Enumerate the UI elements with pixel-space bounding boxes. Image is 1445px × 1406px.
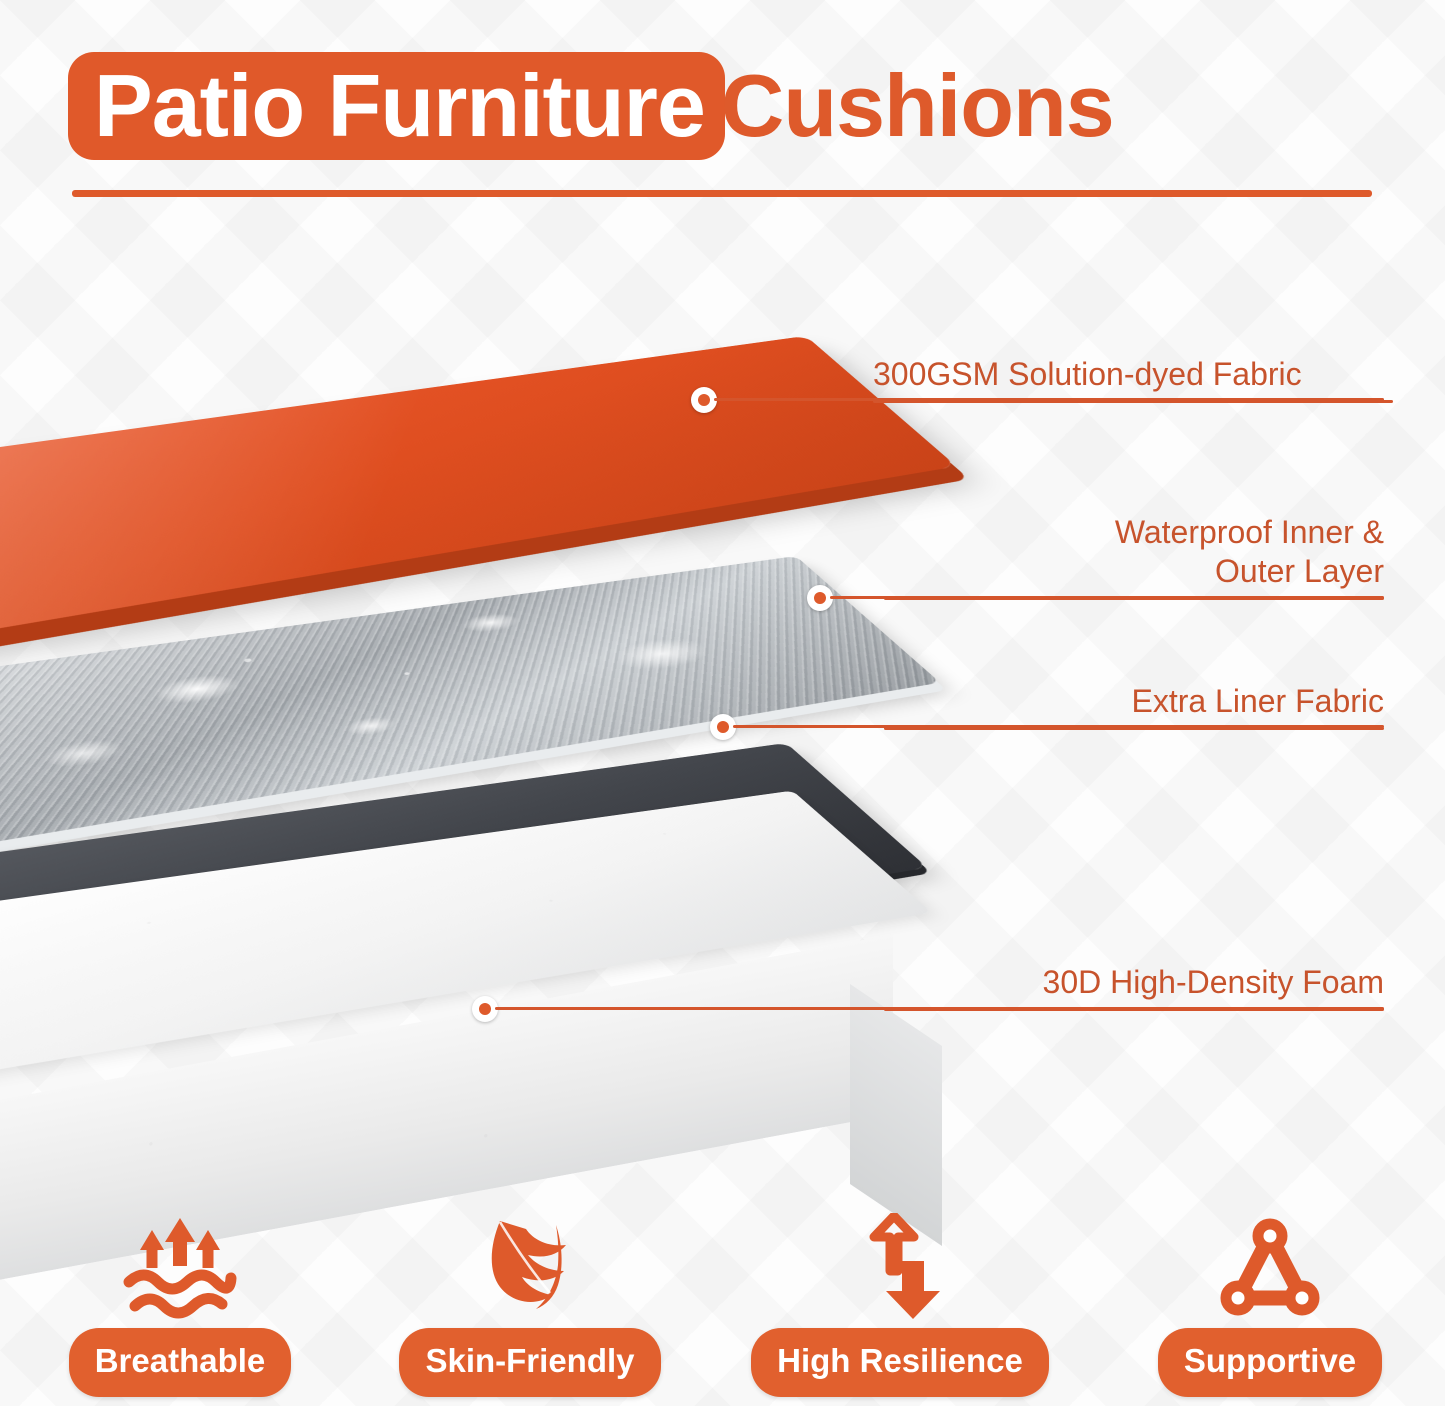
layer-high-density-foam xyxy=(0,770,930,1180)
callout-label-waterproof-underline xyxy=(884,597,1384,600)
feature-high-resilience[interactable]: High Resilience xyxy=(750,1212,1050,1406)
triangle-nodes-icon xyxy=(1214,1212,1326,1324)
feather-icon xyxy=(470,1212,590,1324)
callout-label-liner: Extra Liner Fabric xyxy=(884,682,1384,721)
title-second-part: Cushions xyxy=(705,55,1114,157)
feature-label-skin-friendly[interactable]: Skin-Friendly xyxy=(399,1328,660,1397)
feature-supportive[interactable]: Supportive xyxy=(1120,1212,1420,1406)
feature-breathable[interactable]: Breathable xyxy=(30,1212,330,1406)
title-first-part: Patio Furniture xyxy=(68,55,705,157)
callout-label-waterproof: Waterproof Inner & Outer Layer xyxy=(884,513,1384,591)
feature-badges: Breathable Skin-Friendly xyxy=(0,1212,1445,1406)
feature-skin-friendly[interactable]: Skin-Friendly xyxy=(380,1212,680,1406)
callout-label-foam: 30D High-Density Foam xyxy=(884,963,1384,1002)
infographic-canvas: Patio Furniture Cushions 300GSM Solution… xyxy=(0,0,1445,1406)
callout-label-liner-underline xyxy=(884,727,1384,730)
feature-label-supportive[interactable]: Supportive xyxy=(1158,1328,1382,1397)
title-underline xyxy=(72,190,1372,197)
cushion-layer-stack xyxy=(0,300,980,1180)
breathable-arrows-waves-icon xyxy=(121,1212,239,1324)
title-block: Patio Furniture Cushions xyxy=(0,38,1445,168)
callout-label-fabric-underline xyxy=(873,400,1393,403)
callout-label-foam-underline xyxy=(884,1008,1384,1011)
callout-label-fabric: 300GSM Solution-dyed Fabric xyxy=(873,355,1393,394)
page-title: Patio Furniture Cushions xyxy=(68,52,1378,160)
feature-label-breathable[interactable]: Breathable xyxy=(69,1328,292,1397)
feature-label-high-resilience[interactable]: High Resilience xyxy=(751,1328,1049,1397)
up-down-arrows-icon xyxy=(854,1212,946,1324)
foam-side-face xyxy=(850,984,942,1246)
